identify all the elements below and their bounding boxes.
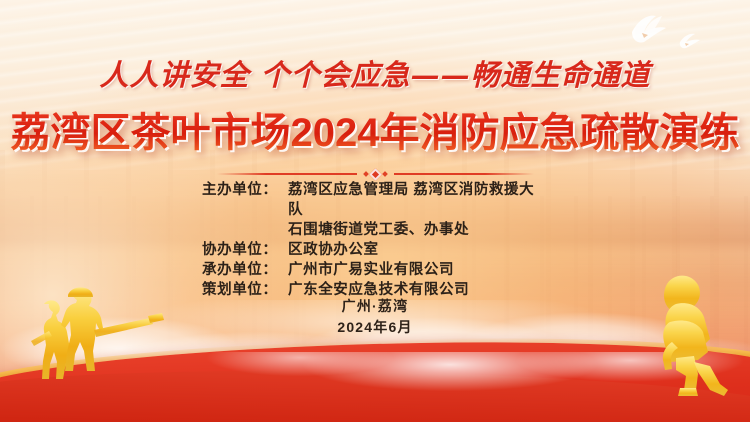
organizer-row-host-continued: 石围塘街道党工委、办事处 — [202, 220, 548, 240]
organizer-row-host: 主办单位： 荔湾区应急管理局 荔湾区消防救援大队 — [202, 180, 548, 220]
organizer-label: 主办单位： — [202, 180, 288, 220]
poster-canvas: 人人讲安全 个个会应急——畅通生命通道 荔湾区茶叶市场2024年消防应急疏散演练… — [0, 0, 750, 422]
running-firefighter-icon — [620, 270, 746, 398]
organizer-label: 承办单位： — [202, 260, 288, 280]
divider-dot-left — [363, 171, 369, 177]
organizer-label: 协办单位： — [202, 240, 288, 260]
organizer-row-cohost: 协办单位： 区政协办公室 — [202, 240, 548, 260]
divider-line-left — [217, 173, 357, 175]
poster-title: 荔湾区茶叶市场2024年消防应急疏散演练 — [0, 100, 750, 158]
organizer-value: 广州市广易实业有限公司 — [288, 260, 548, 280]
poster-headline: 人人讲安全 个个会应急——畅通生命通道 — [0, 52, 750, 94]
divider-diamond-icon — [369, 168, 382, 181]
organizer-row-undertaker: 承办单位： 广州市广易实业有限公司 — [202, 260, 548, 280]
diamond-divider — [0, 167, 750, 181]
divider-dot-right — [382, 171, 388, 177]
divider-ornament-icon — [357, 170, 394, 179]
organizer-value-continued: 石围塘街道党工委、办事处 — [288, 220, 548, 240]
organizer-value: 区政协办公室 — [288, 240, 548, 260]
firefighters-with-hose-icon — [8, 278, 168, 386]
organizer-value: 荔湾区应急管理局 荔湾区消防救援大队 — [288, 180, 548, 220]
divider-line-right — [394, 173, 534, 175]
